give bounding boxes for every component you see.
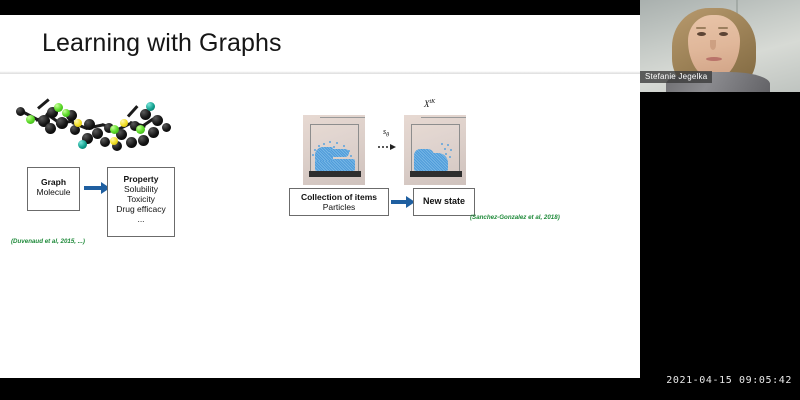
eye-right xyxy=(719,32,728,36)
mouth xyxy=(706,57,722,61)
screen-recording-frame: Learning with Graphs xyxy=(0,0,800,400)
eyebrow-left xyxy=(696,27,706,29)
collection-box-title: Collection of items xyxy=(290,192,388,202)
dotted-arrow-icon xyxy=(378,143,400,151)
new-state-output-box: New state xyxy=(413,188,475,216)
molecule-illustration xyxy=(12,93,180,165)
webcam-video-tile[interactable]: Stefanie Jegelka xyxy=(640,0,800,92)
property-item-solubility: Solubility xyxy=(108,184,174,194)
state-math-label: XtK xyxy=(424,99,435,109)
operator-subscript: θ xyxy=(386,133,389,139)
operator-math-label: sθ xyxy=(383,127,389,139)
arrow-right-icon xyxy=(84,186,102,190)
presentation-slide: Learning with Graphs xyxy=(0,15,640,378)
property-item-drug-efficacy: Drug efficacy xyxy=(108,204,174,214)
citation-duvenaud: (Duvenaud et al, 2015, ...) xyxy=(11,238,85,245)
citation-sanchez-gonzalez: (Sanchez-Gonzalez et al, 2018) xyxy=(470,214,560,221)
eyebrow-right xyxy=(718,27,728,29)
property-output-box: Property Solubility Toxicity Drug effica… xyxy=(107,167,175,237)
nose xyxy=(710,40,716,50)
property-item-toxicity: Toxicity xyxy=(108,194,174,204)
arrow-right-icon xyxy=(391,200,407,204)
particle-sim-final xyxy=(404,115,466,185)
particle-sim-initial xyxy=(303,115,365,185)
property-item-ellipsis: ... xyxy=(108,214,174,224)
property-box-title: Property xyxy=(108,174,174,184)
collection-box-subtitle: Particles xyxy=(290,202,388,212)
title-divider xyxy=(0,71,640,74)
participant-name-label: Stefanie Jegelka xyxy=(640,71,712,83)
graph-box-title: Graph xyxy=(28,177,79,187)
page-title: Learning with Graphs xyxy=(42,29,282,58)
recording-timestamp: 2021-04-15 09:05:42 xyxy=(666,375,792,386)
video-participant-pane[interactable]: Stefanie Jegelka 2021-04-15 09:05:42 xyxy=(640,0,800,400)
collection-input-box: Collection of items Particles xyxy=(289,188,389,216)
eye-left xyxy=(697,32,706,36)
graph-input-box: Graph Molecule xyxy=(27,167,80,211)
new-state-box-title: New state xyxy=(414,196,474,207)
slide-share-pane: Learning with Graphs xyxy=(0,0,640,400)
graph-box-subtitle: Molecule xyxy=(28,187,79,197)
state-superscript: tK xyxy=(430,99,436,105)
